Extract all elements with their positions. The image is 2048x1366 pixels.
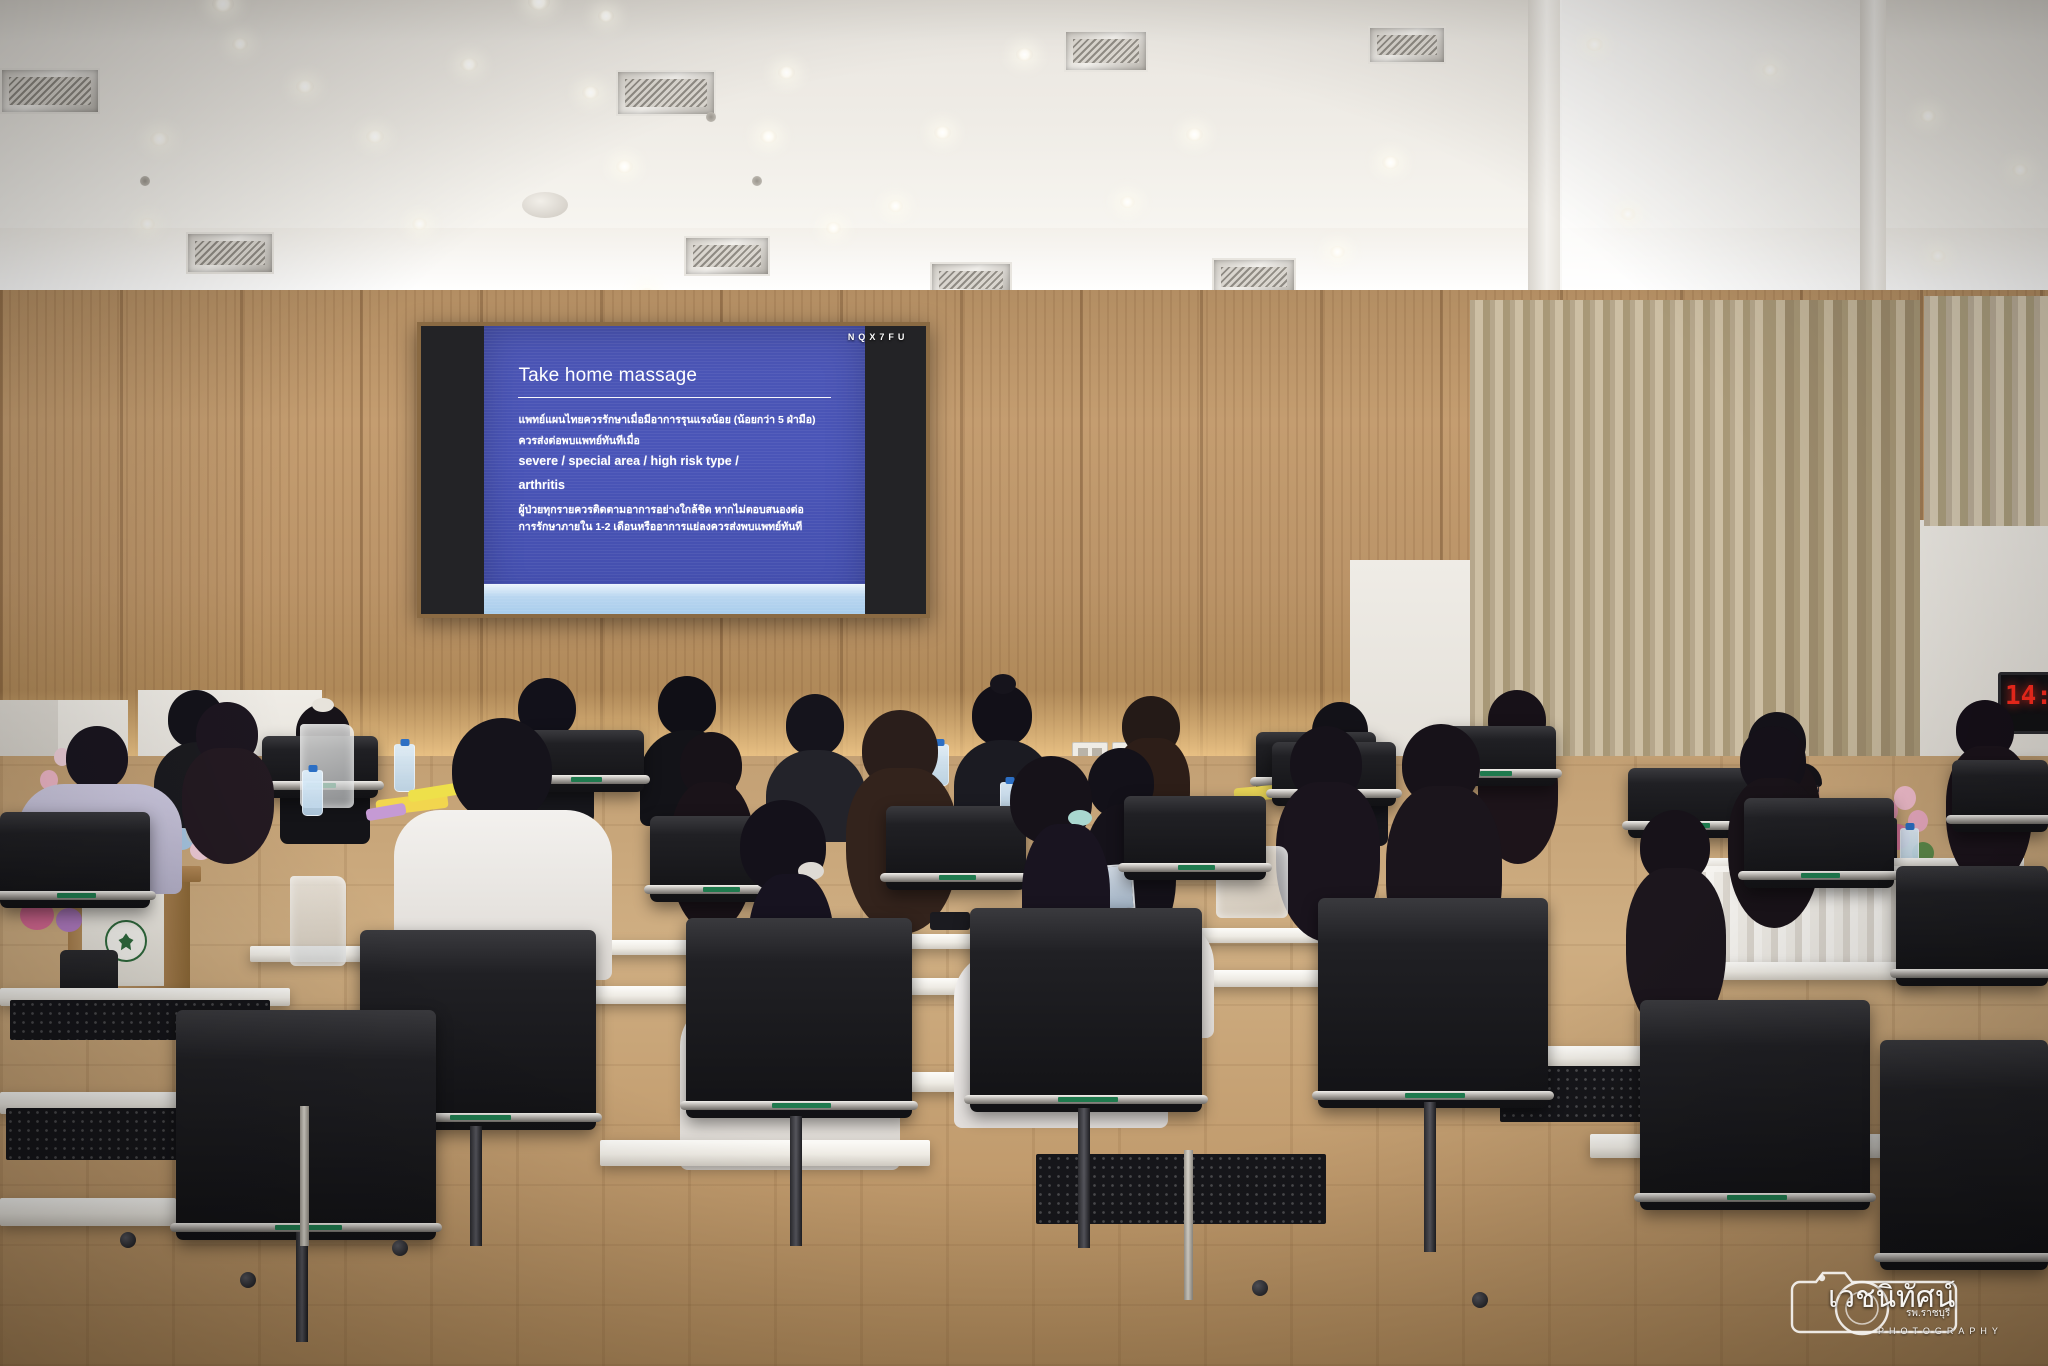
air-diffuser-icon	[1368, 26, 1446, 64]
downlight-icon	[366, 130, 384, 143]
chair-post	[1424, 1102, 1436, 1252]
slide-title: Take home massage	[518, 365, 697, 387]
table-row	[600, 1140, 930, 1166]
downlight-icon	[232, 38, 248, 50]
projection-screen: Take home massage แพทย์แผนไทยควรรักษาเมื…	[421, 326, 926, 614]
downlight-icon	[598, 10, 614, 22]
downlight-icon	[934, 126, 951, 139]
bottle-cap	[308, 765, 317, 772]
screenshot-root: 14: Take home massage แพทย์แผนไทยควรรักษ…	[0, 0, 2048, 1366]
slide-english-line-1: severe / special area / high risk type /	[518, 454, 838, 470]
flower-bloom	[56, 908, 82, 932]
projection-screen-frame: Take home massage แพทย์แผนไทยควรรักษาเมื…	[417, 322, 930, 618]
downlight-icon	[888, 200, 903, 212]
attendee-head	[786, 694, 844, 756]
downlight-icon	[760, 130, 777, 143]
ceiling-beam-right	[1860, 0, 1886, 300]
slide-body: แพทย์แผนไทยควรรักษาเมื่อมีอาการรุนแรงน้อ…	[518, 412, 838, 535]
downlight-icon	[778, 66, 795, 79]
sprinkler-icon	[752, 176, 762, 186]
chair[interactable]	[1896, 866, 2048, 986]
attendee-head	[452, 718, 552, 822]
chair[interactable]	[1318, 898, 1548, 1108]
slide-english-line-2: arthritis	[518, 478, 838, 494]
downlight-icon	[296, 80, 314, 93]
chair[interactable]	[686, 918, 912, 1118]
attendee-hair	[182, 748, 274, 864]
chair[interactable]	[1952, 760, 2048, 832]
downlight-icon	[140, 218, 155, 230]
chair-caster	[392, 1240, 408, 1256]
downlight-icon	[616, 160, 633, 173]
chair-post	[790, 1116, 802, 1246]
chair[interactable]	[0, 812, 150, 908]
downlight-icon	[1762, 64, 1778, 76]
chair-post	[470, 1126, 482, 1246]
downlight-icon	[1120, 196, 1135, 208]
downlight-icon	[1382, 156, 1399, 169]
table-row	[0, 1198, 176, 1226]
slide-watermark-code: NQX7FU	[848, 332, 909, 342]
downlight-icon	[150, 132, 169, 146]
chair-post	[296, 1232, 308, 1342]
downlight-icon	[826, 222, 841, 234]
slide-footer-band	[484, 584, 865, 614]
sprinkler-icon	[140, 176, 150, 186]
chair[interactable]	[886, 806, 1026, 890]
hair-accessory	[312, 698, 334, 712]
water-bottle	[394, 744, 415, 792]
chair[interactable]	[970, 908, 1202, 1112]
air-diffuser-icon	[684, 236, 770, 276]
air-diffuser-icon	[0, 68, 100, 114]
curtain-right	[1770, 300, 1920, 770]
chair-post	[1078, 1108, 1090, 1248]
ceiling-cove-glow	[1560, 0, 1860, 300]
downlight-icon	[1186, 128, 1203, 141]
slide-thai-line-2: ควรส่งต่อพบแพทย์ทันทีเมื่อ	[518, 433, 838, 450]
hair-bun	[990, 674, 1016, 694]
air-diffuser-icon	[616, 70, 716, 116]
slide-thai-line-1: แพทย์แผนไทยควรรักษาเมื่อมีอาการรุนแรงน้อ…	[518, 412, 838, 429]
downlight-icon	[2012, 164, 2028, 176]
table-leg	[300, 1106, 309, 1246]
ceiling-beam-left	[1528, 0, 1562, 300]
air-diffuser-icon	[186, 232, 274, 274]
table-leg	[1184, 1150, 1193, 1300]
sprinkler-icon	[706, 112, 716, 122]
ceiling	[0, 0, 2048, 300]
attendee-head	[66, 726, 128, 790]
downlight-icon	[1330, 246, 1345, 258]
flower-bloom	[1894, 786, 1916, 810]
downlight-icon	[582, 86, 599, 99]
chair[interactable]	[1744, 798, 1894, 888]
chair-caster	[1472, 1292, 1488, 1308]
chair-caster	[1252, 1280, 1268, 1296]
chair[interactable]	[1880, 1040, 2048, 1270]
chair-caster	[240, 1272, 256, 1288]
downlight-icon	[412, 218, 427, 230]
slide-footer-line-1: ผู้ป่วยทุกรายควรติดตามอาการอย่างใกล้ชิด …	[518, 502, 838, 519]
downlight-icon	[1620, 208, 1636, 220]
water-bottle	[302, 770, 323, 816]
downlight-icon	[1920, 110, 1936, 122]
air-diffuser-icon	[1064, 30, 1148, 72]
curtain-far-right	[1924, 296, 2048, 526]
phone-device[interactable]	[930, 912, 970, 930]
slide-title-underline	[518, 397, 831, 399]
downlight-icon	[1930, 250, 1946, 262]
plastic-bag	[290, 876, 346, 966]
downlight-icon	[1016, 48, 1033, 61]
downlight-icon	[1586, 38, 1603, 51]
slide-footer-line-2: การรักษาภายใน 1-2 เดือนหรืออาการแย่ลงควร…	[518, 519, 838, 536]
chair[interactable]	[1124, 796, 1266, 880]
bottle-cap	[1905, 823, 1914, 830]
attendee-head	[658, 676, 716, 736]
presentation-slide: Take home massage แพทย์แผนไทยควรรักษาเมื…	[484, 326, 865, 614]
chair[interactable]	[1640, 1000, 1870, 1210]
chair-caster	[120, 1232, 136, 1248]
bottle-cap	[400, 739, 409, 746]
clock-digits: 14:	[2005, 681, 2048, 711]
downlight-icon	[460, 58, 478, 71]
ceiling-speaker-icon	[522, 192, 568, 218]
